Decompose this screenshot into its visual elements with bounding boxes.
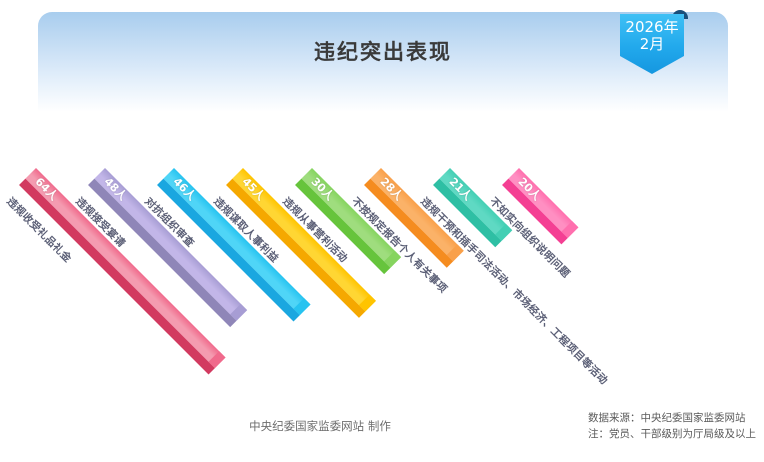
footer-note: 注：党员、干部级别为厅局级及以上 xyxy=(588,426,756,442)
isometric-bar-chart: 64人违规收受礼品礼金48人违规接受宴请46人对抗组织审查45人违规谋取人事利益… xyxy=(0,0,764,462)
footer-notes: 数据来源：中央纪委国家监委网站 注：党员、干部级别为厅局级及以上 xyxy=(588,410,756,443)
footer-credit: 中央纪委国家监委网站 制作 xyxy=(0,418,640,434)
footer-source: 数据来源：中央纪委国家监委网站 xyxy=(588,410,756,426)
